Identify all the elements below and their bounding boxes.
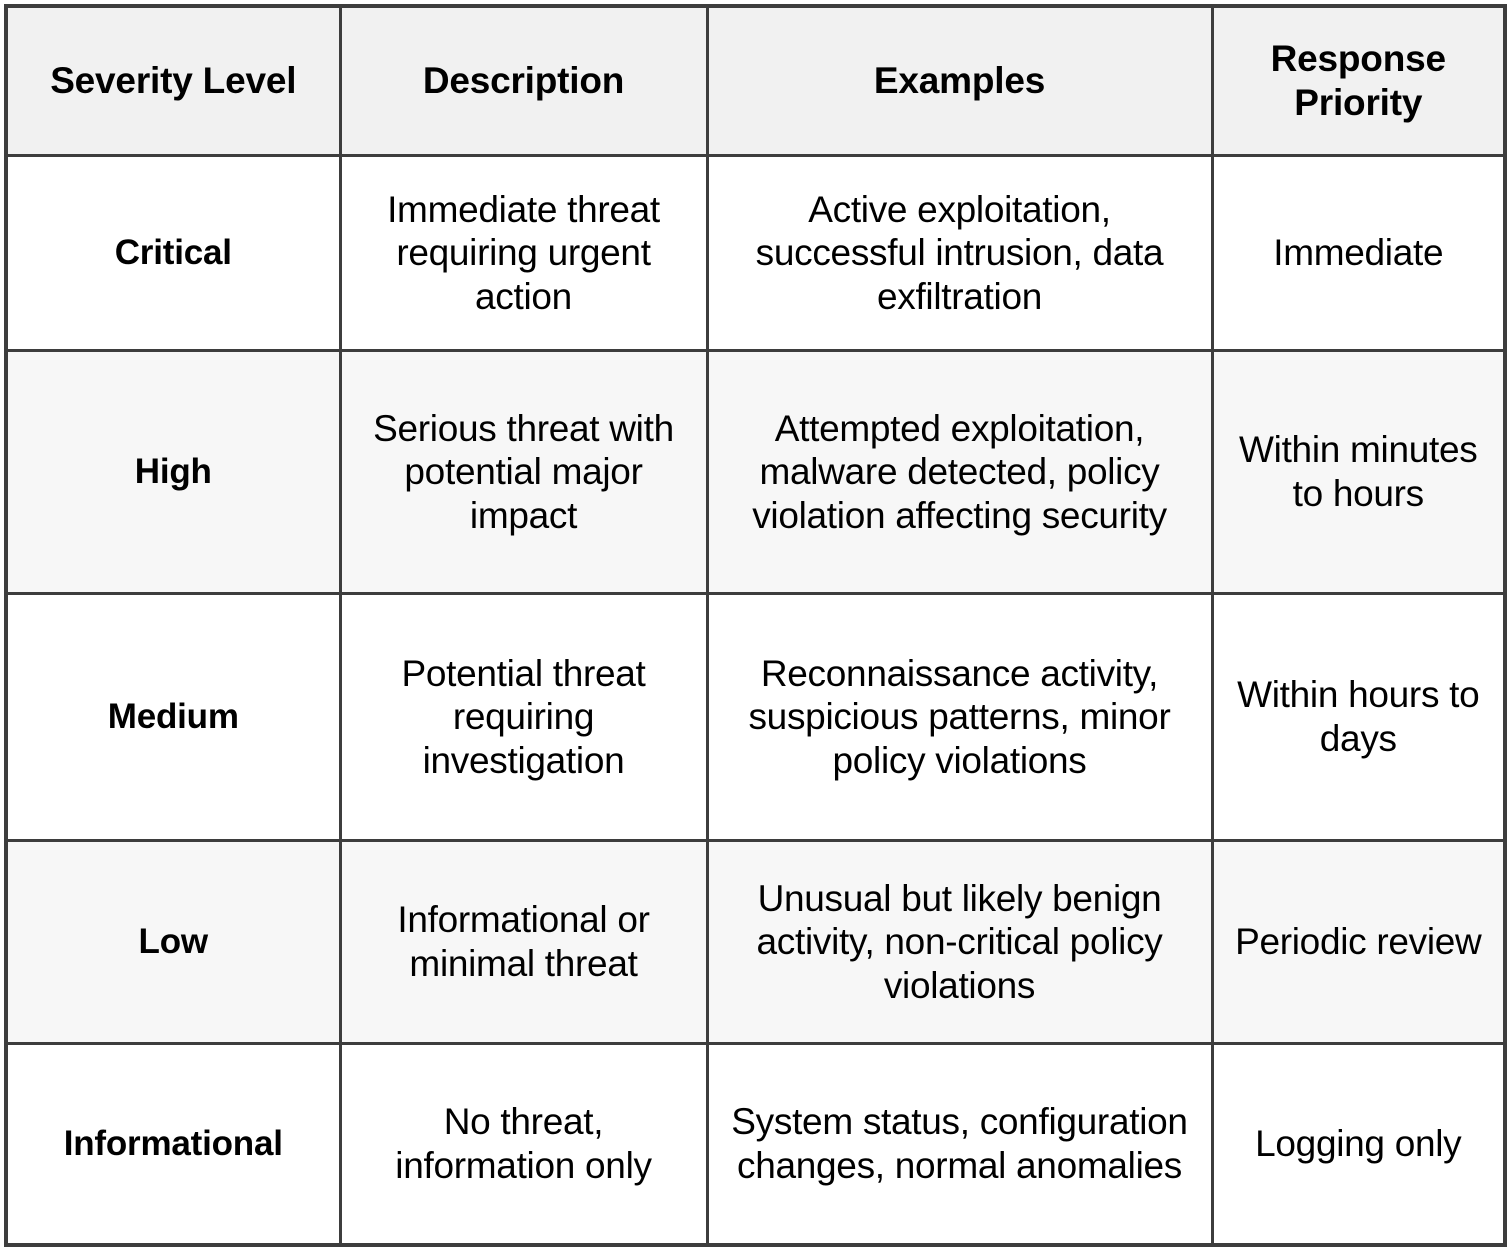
header-row: Severity Level Description Examples Resp…: [6, 6, 1505, 156]
cell-description: No threat, information only: [340, 1044, 707, 1246]
cell-description: Immediate threat requiring urgent action: [340, 156, 707, 351]
cell-examples: System status, configuration changes, no…: [707, 1044, 1212, 1246]
cell-severity-level: High: [6, 351, 340, 594]
table-row: Critical Immediate threat requiring urge…: [6, 156, 1505, 351]
column-header-severity-level: Severity Level: [6, 6, 340, 156]
cell-severity-level: Medium: [6, 594, 340, 841]
cell-response-priority: Within minutes to hours: [1212, 351, 1505, 594]
table-header: Severity Level Description Examples Resp…: [6, 6, 1505, 156]
cell-severity-level: Low: [6, 841, 340, 1044]
cell-description: Serious threat with potential major impa…: [340, 351, 707, 594]
table-container: Severity Level Description Examples Resp…: [0, 0, 1512, 1161]
table-row: Medium Potential threat requiring invest…: [6, 594, 1505, 841]
severity-level-table: Severity Level Description Examples Resp…: [4, 4, 1507, 1247]
table-body: Critical Immediate threat requiring urge…: [6, 156, 1505, 1246]
cell-examples: Unusual but likely benign activity, non-…: [707, 841, 1212, 1044]
cell-response-priority: Immediate: [1212, 156, 1505, 351]
column-header-examples: Examples: [707, 6, 1212, 156]
cell-description: Potential threat requiring investigation: [340, 594, 707, 841]
cell-description: Informational or minimal threat: [340, 841, 707, 1044]
column-header-response-priority: Response Priority: [1212, 6, 1505, 156]
cell-response-priority: Logging only: [1212, 1044, 1505, 1246]
cell-examples: Active exploitation, successful intrusio…: [707, 156, 1212, 351]
table-row: Low Informational or minimal threat Unus…: [6, 841, 1505, 1044]
cell-response-priority: Periodic review: [1212, 841, 1505, 1044]
cell-response-priority: Within hours to days: [1212, 594, 1505, 841]
cell-examples: Attempted exploitation, malware detected…: [707, 351, 1212, 594]
table-row: Informational No threat, information onl…: [6, 1044, 1505, 1246]
table-row: High Serious threat with potential major…: [6, 351, 1505, 594]
cell-examples: Reconnaissance activity, suspicious patt…: [707, 594, 1212, 841]
cell-severity-level: Informational: [6, 1044, 340, 1246]
column-header-description: Description: [340, 6, 707, 156]
cell-severity-level: Critical: [6, 156, 340, 351]
